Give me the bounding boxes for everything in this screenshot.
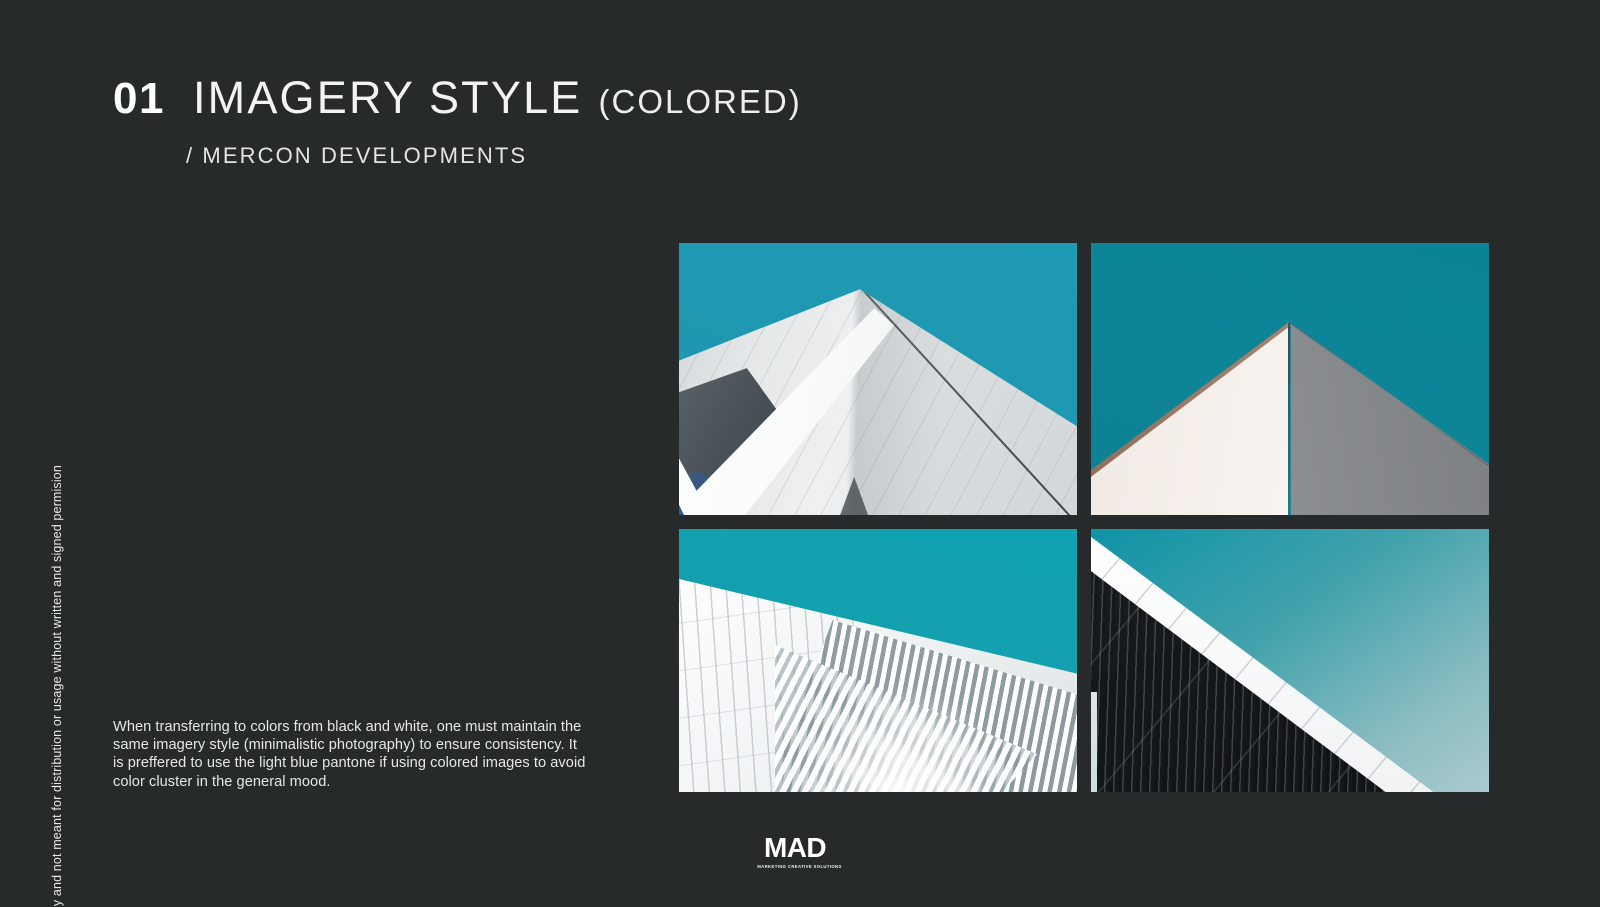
- gallery-image-white-angular-roof-peak: [679, 243, 1077, 515]
- slide-canvas: These concepts are property of MAD only …: [0, 0, 1600, 907]
- left-edge-sliver: [1091, 692, 1097, 792]
- page-number: 01: [113, 77, 165, 121]
- image-gallery-grid: [679, 243, 1489, 792]
- mad-logo: MAD MARKETING CREATIVE SOLUTIONS: [758, 834, 832, 869]
- side-legal-suffix: only and not meant for distribution or u…: [50, 465, 64, 907]
- page-title-qualifier: (COLORED): [599, 85, 802, 118]
- side-legal-notice: These concepts are property of MAD only …: [46, 88, 68, 808]
- gallery-image-dark-louvered-facade: [1091, 529, 1489, 792]
- logo-tagline: MARKETING CREATIVE SOLUTIONS: [757, 864, 832, 869]
- highlight-glow: [798, 687, 1005, 792]
- body-paragraph: When transferring to colors from black a…: [113, 718, 591, 791]
- gallery-image-pyramid-peak-cream-grey: [1091, 243, 1489, 515]
- page-title-main: IMAGERY STYLE: [193, 75, 583, 120]
- project-subtitle: / MERCON DEVELOPMENTS: [186, 143, 527, 169]
- logo-wordmark: MAD: [758, 834, 832, 862]
- pyramid-center-ridge: [1288, 323, 1290, 515]
- gallery-image-white-radiating-fins: [679, 529, 1077, 792]
- side-legal-text: These concepts are property of MAD only …: [50, 465, 64, 907]
- page-title: 01 IMAGERY STYLE (COLORED): [113, 75, 802, 121]
